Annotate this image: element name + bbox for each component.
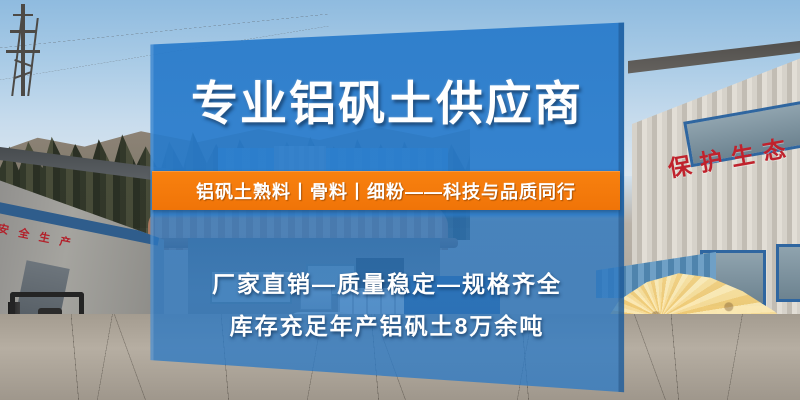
tagline-text: 铝矾土熟料丨骨料丨细粉——科技与品质同行 (196, 178, 576, 204)
tagline-bar: 铝矾土熟料丨骨料丨细粉——科技与品质同行 (152, 171, 620, 210)
transmission-tower-icon (6, 4, 40, 96)
subline-1: 厂家直销—质量稳定—规格齐全 (148, 265, 626, 299)
power-lines (0, 8, 330, 88)
promo-banner: 安全生产 保护生态 专业铝矾土供应商 铝矾土熟料丨骨料丨细粉——科技与 (0, 0, 800, 400)
window (776, 244, 800, 302)
subline-2: 库存充足年产铝矾土8万余吨 (148, 307, 626, 341)
headline: 专业铝矾土供应商 (148, 78, 626, 131)
